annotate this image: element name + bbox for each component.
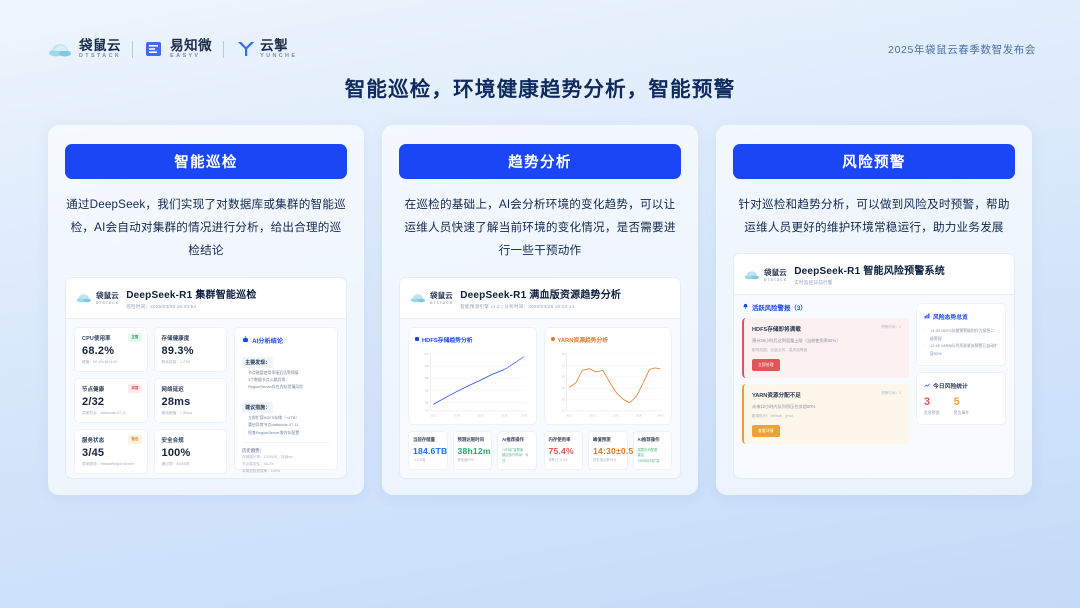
app-screenshot-inspection: 袋鼠云 DTSTACK DeepSeek-R1 集群智能巡检 巡检时间：2025… <box>65 277 347 479</box>
metric-value: 3/45 <box>82 447 140 459</box>
alert-time: 预警时间：2 <box>881 325 901 330</box>
ai-findings-title: 主要发现： <box>242 357 273 368</box>
risk-overview-heading: 风险态势总览 <box>933 312 968 321</box>
app-title-block-risk: DeepSeek-R1 智能风险预警系统 实时监控日前行警 <box>794 262 945 286</box>
stat-note: +4TB扩容预案 建议执行时间：今日 <box>502 448 532 464</box>
chart-yarn-title: YARN资源趋势分析 <box>558 335 609 344</box>
stat-label: 内存使用率 <box>549 437 579 443</box>
metric-label: 安全合规 <box>162 436 220 444</box>
alert-action-button[interactable]: 查看详情 <box>752 425 780 437</box>
svg-text:15: 15 <box>561 408 564 412</box>
logo-divider-2 <box>223 41 224 58</box>
metric-value: 100% <box>162 447 220 459</box>
risk-stat-value: 3 <box>924 396 930 408</box>
stat-card: 预测达限时间 38h12m 置信度92% <box>453 431 493 470</box>
column-description-inspection: 通过DeepSeek，我们实现了对数据库或集群的智能巡检，AI会自动对集群的情况… <box>65 193 347 263</box>
legend-swatch-icon <box>551 337 555 341</box>
logo-dtstack-text: 袋鼠云 DTSTACK <box>79 39 121 60</box>
app-brand-en: DTSTACK <box>96 301 119 305</box>
svg-text:150: 150 <box>424 400 429 404</box>
ai-advice-item: 重启异常节点datanode-07,11 <box>242 421 330 428</box>
column-risk: 风险预警 针对巡检和趋势分析，可以做到风险及时预警，帮助运维人员更好的维护环境常… <box>716 125 1032 495</box>
app-brand-cn: 袋鼠云 <box>430 290 453 301</box>
svg-text:180: 180 <box>424 376 429 380</box>
logo-yunche-text: 云掣 YUNCHE <box>260 39 297 60</box>
svg-text:60: 60 <box>561 374 564 378</box>
metric-value: 28ms <box>162 396 220 408</box>
risk-stats-heading: 今日风险统计 <box>933 381 968 390</box>
alert-item-critical[interactable]: 预警时间：2 HDFS存储即将满载 预计36小时后达到容量上限（当前使用率92%… <box>742 318 909 378</box>
ai-panel-heading-row: AI分析结论 <box>242 336 330 345</box>
stat-card: 内存使用率 75.4% 较昨日↑3.2% <box>544 431 584 470</box>
alert-meta: 影响范围：全量业务、高风险等级 <box>752 348 901 353</box>
chart-hdfs-legend: HDFS存储趋势分析 <box>415 335 530 344</box>
stat-label: 当前存储量 <box>413 437 443 443</box>
cloud-logo-icon <box>410 291 427 304</box>
chart-yarn: YARN资源趋势分析 <box>544 327 673 426</box>
stats-row-memory: 内存使用率 75.4% 较昨日↑3.2% 峰值预测 14:30±0.5h 历史重… <box>544 431 673 470</box>
app-title-block-trend: DeepSeek-R1 满血版资源趋势分析 智能预测引擎 v1.2 | 分析时间… <box>460 286 621 310</box>
stat-value: 14:30±0.5h <box>593 446 623 456</box>
logo-dtstack-en: DTSTACK <box>79 54 121 59</box>
ai-advice-title: 建议措施： <box>242 402 273 413</box>
svg-text:12:00: 12:00 <box>612 414 619 417</box>
svg-text:03-26: 03-26 <box>478 414 485 417</box>
app-brand-cn: 袋鼠云 <box>764 267 787 278</box>
svg-text:90: 90 <box>561 351 564 355</box>
stat-card: 峰值预测 14:30±0.5h 历史重合率93% <box>588 431 628 470</box>
app-subtitle-inspection: 巡检时间：2025/03/28 15:34:54 <box>126 304 256 310</box>
app-title-trend: DeepSeek-R1 满血版资源趋势分析 <box>460 286 621 301</box>
alert-meta: 影响队列：default、prod <box>752 414 901 419</box>
risk-overview-item: 12:45 YARN队列资源紧张预警已自动扩容50% <box>924 342 998 357</box>
metric-note: 异常节点：datanode-07,11 <box>82 411 140 416</box>
svg-text:165: 165 <box>424 388 429 392</box>
stat-note: 历史重合率93% <box>593 458 623 463</box>
alert-description: 未来12小时内队列积压任务超80% <box>752 404 901 410</box>
app-title-block-inspection: DeepSeek-R1 集群智能巡检 巡检时间：2025/03/28 15:34… <box>126 286 256 310</box>
metric-note: 剩余容量：1.2TB <box>162 360 220 365</box>
robot-icon <box>242 336 249 345</box>
app-header-risk: 袋鼠云 DTSTACK DeepSeek-R1 智能风险预警系统 实时监控日前行… <box>734 254 1014 295</box>
svg-text:03-24: 03-24 <box>454 414 461 417</box>
yunche-logo-icon <box>235 39 255 59</box>
metric-label: 网络延迟 <box>162 385 220 393</box>
risk-overview-heading-row: 风险态势总览 <box>924 312 998 321</box>
metric-grid: 正常 CPU使用率 68.2% 峰值：92.4% @14:20 存储健康度 89… <box>74 327 227 470</box>
svg-text:00:00: 00:00 <box>566 414 573 417</box>
app-body-trend: HDFS存储趋势分析 <box>400 319 680 478</box>
legend-swatch-icon <box>415 337 419 341</box>
metric-card: 网络延迟 28ms 基线阈值：< 50ms <box>154 378 228 423</box>
stats-row-storage: 当前存储量 184.6TB ↑12%/周 预测达限时间 38h12m 置信度92… <box>408 431 537 470</box>
column-heading-inspection: 智能巡检 <box>65 144 347 179</box>
stat-label: 峰值预测 <box>593 437 623 443</box>
alerts-panel: 活跃风险警报（3） 预警时间：2 HDFS存储即将满载 预计36小时后达到容量上… <box>742 303 909 470</box>
app-brand-inspection: 袋鼠云 DTSTACK <box>76 290 119 305</box>
ai-advice-item: 检查RegionServer堆内存配置 <box>242 429 330 436</box>
logo-group: 袋鼠云 DTSTACK 易知微 EASYV <box>48 39 297 60</box>
app-body-inspection: 正常 CPU使用率 68.2% 峰值：92.4% @14:20 存储健康度 89… <box>66 319 346 478</box>
ai-advice-item: 立即扩容HDFS存储（+4TB） <box>242 414 330 421</box>
app-brand-cn: 袋鼠云 <box>96 290 119 301</box>
metric-card: 存储健康度 89.3% 剩余容量：1.2TB <box>154 327 228 372</box>
svg-text:75: 75 <box>561 363 564 367</box>
app-header-trend: 袋鼠云 DTSTACK DeepSeek-R1 满血版资源趋势分析 智能预测引擎… <box>400 278 680 319</box>
svg-text:06:00: 06:00 <box>589 414 596 417</box>
logo-yunche: 云掣 YUNCHE <box>235 39 297 60</box>
logo-easyv-en: EASYV <box>170 54 212 59</box>
svg-text:135: 135 <box>424 408 429 412</box>
risk-overview-card: 风险态势总览 14:30 HDFS存储预警级别升为紧急二级警报 12:45 YA… <box>916 303 1006 366</box>
chart-hdfs: HDFS存储趋势分析 <box>408 327 537 426</box>
cloud-logo-icon <box>76 291 93 304</box>
easyv-logo-icon <box>144 39 165 59</box>
stat-note: 较昨日↑3.2% <box>549 458 579 463</box>
ai-history-item: 存储增长率：12GB/天，持续mu <box>242 454 330 461</box>
logo-dtstack: 袋鼠云 DTSTACK <box>48 39 121 60</box>
stat-note: ↑12%/周 <box>413 458 443 463</box>
svg-text:03-30: 03-30 <box>521 414 528 417</box>
logo-yunche-en: YUNCHE <box>260 54 297 59</box>
app-screenshot-trend: 袋鼠云 DTSTACK DeepSeek-R1 满血版资源趋势分析 智能预测引擎… <box>399 277 681 479</box>
metric-card: 警告 服务状态 3/45 异常服务：HBaseRegionServer <box>74 429 148 474</box>
svg-text:03-22: 03-22 <box>430 414 437 417</box>
chart-yarn-plot: 907560 453015 00:0006:00 12:0018:0024:00 <box>551 346 666 421</box>
metric-value: 89.3% <box>162 345 220 357</box>
logo-divider-1 <box>132 41 133 58</box>
ai-finding-item: 节点磁盘使用率接近告警阈值 <box>242 369 330 376</box>
app-subtitle-trend: 智能预测引擎 v1.2 | 分析时间：2025/03/28 15:23:14 <box>460 304 621 310</box>
status-badge: 警告 <box>128 435 141 444</box>
svg-text:195: 195 <box>424 364 429 368</box>
ai-history-title: 历史趋势： <box>242 442 330 454</box>
risk-stat-label: 危急警报 <box>924 410 940 416</box>
chart-hdfs-title: HDFS存储趋势分析 <box>422 335 473 344</box>
risk-stat-label: 警告事件 <box>954 410 970 416</box>
alerts-heading: 活跃风险警报（3） <box>752 303 807 312</box>
stat-label: 预测达限时间 <box>458 437 488 443</box>
stat-value: 75.4% <box>549 446 579 456</box>
svg-text:24:00: 24:00 <box>657 414 664 417</box>
svg-text:210: 210 <box>424 351 429 355</box>
ai-history-item: 节点稳定性：98.2% <box>242 461 330 468</box>
trend-up-icon <box>924 382 930 390</box>
cloud-logo-icon <box>48 39 74 59</box>
alert-title: YARN资源分配不足 <box>752 391 901 399</box>
column-description-risk: 针对巡检和趋势分析，可以做到风险及时预警，帮助运维人员更好的维护环境常稳运行，助… <box>733 193 1015 239</box>
logo-yunche-cn: 云掣 <box>260 39 297 53</box>
alert-title: HDFS存储即将满载 <box>752 325 901 333</box>
logo-easyv: 易知微 EASYV <box>144 39 212 60</box>
stat-value: 184.6TB <box>413 446 443 456</box>
stat-card: 当前存储量 184.6TB ↑12%/周 <box>408 431 448 470</box>
ai-history-item: 本周巡检完成率：100% <box>242 468 330 475</box>
slide: 袋鼠云 DTSTACK 易知微 EASYV <box>0 0 1080 608</box>
app-brand-en: DTSTACK <box>764 278 787 282</box>
stat-label: AI推荐操作 <box>638 437 668 443</box>
risk-stat-numbers: 3 危急警报 5 警告事件 <box>924 396 998 416</box>
stat-card: AI推荐操作 调整队列配置 建议： YARN队列扩容 <box>633 431 673 470</box>
alert-time: 预警时间：1 <box>881 391 901 396</box>
metric-label: 存储健康度 <box>162 334 220 342</box>
svg-text:45: 45 <box>561 385 564 389</box>
ai-finding-item: 3个数据节点心跳异常 <box>242 376 330 383</box>
risk-overview-item: 14:30 HDFS存储预警级别升为紧急二级警报 <box>924 327 998 342</box>
page-title: 智能巡检，环境健康趋势分析，智能预警 <box>0 72 1080 102</box>
alert-action-button[interactable]: 立即处理 <box>752 359 780 371</box>
app-brand-risk: 袋鼠云 DTSTACK <box>744 267 787 282</box>
svg-text:18:00: 18:00 <box>635 414 642 417</box>
feature-columns: 智能巡检 通过DeepSeek，我们实现了对数据库或集群的智能巡检，AI会自动对… <box>48 125 1032 495</box>
stat-note: 置信度92% <box>458 458 488 463</box>
app-subtitle-risk: 实时监控日前行警 <box>794 280 945 286</box>
event-label: 2025年袋鼠云春季数智发布会 <box>888 42 1036 57</box>
chart-hdfs-plot: 210195180 165150135 03-2203-24 03-2603-2… <box>415 346 530 421</box>
logo-easyv-text: 易知微 EASYV <box>170 39 212 60</box>
status-badge: 正常 <box>128 333 141 342</box>
metric-card: 异常 节点健康 2/32 异常节点：datanode-07,11 <box>74 378 148 423</box>
alert-description: 预计36小时后达到容量上限（当前使用率92%） <box>752 338 901 344</box>
chart-yarn-legend: YARN资源趋势分析 <box>551 335 666 344</box>
header-bar: 袋鼠云 DTSTACK 易知微 EASYV <box>48 34 1036 64</box>
column-heading-risk: 风险预警 <box>733 144 1015 179</box>
app-body-risk: 活跃风险警报（3） 预警时间：2 HDFS存储即将满载 预计36小时后达到容量上… <box>734 295 1014 478</box>
ai-conclusion-panel: AI分析结论 主要发现： 节点磁盘使用率接近告警阈值 3个数据节点心跳异常 Re… <box>234 327 338 470</box>
alert-item-warning[interactable]: 预警时间：1 YARN资源分配不足 未来12小时内队列积压任务超80% 影响队列… <box>742 384 909 444</box>
risk-stat-warning: 5 警告事件 <box>954 396 970 416</box>
column-trend: 趋势分析 在巡检的基础上，AI会分析环境的变化趋势，可以让运维人员快速了解当前环… <box>382 125 698 495</box>
app-brand-trend: 袋鼠云 DTSTACK <box>410 290 453 305</box>
risk-stats-heading-row: 今日风险统计 <box>924 381 998 390</box>
column-description-trend: 在巡检的基础上，AI会分析环境的变化趋势，可以让运维人员快速了解当前环境的变化情… <box>399 193 681 263</box>
metric-note: 通过项：45/45项 <box>162 462 220 467</box>
logo-dtstack-cn: 袋鼠云 <box>79 39 121 53</box>
bell-icon <box>742 303 749 312</box>
risk-stat-value: 5 <box>954 396 960 408</box>
app-screenshot-risk: 袋鼠云 DTSTACK DeepSeek-R1 智能风险预警系统 实时监控日前行… <box>733 253 1015 479</box>
stat-value: 38h12m <box>458 446 488 456</box>
metric-note: 基线阈值：< 50ms <box>162 411 220 416</box>
svg-text:30: 30 <box>561 397 564 401</box>
column-heading-trend: 趋势分析 <box>399 144 681 179</box>
status-badge: 异常 <box>128 384 141 393</box>
metric-card: 安全合规 100% 通过项：45/45项 <box>154 429 228 474</box>
metric-note: 峰值：92.4% @14:20 <box>82 360 140 365</box>
risk-stat-critical: 3 危急警报 <box>924 396 940 416</box>
bar-chart-icon <box>924 313 930 321</box>
risk-stats-card: 今日风险统计 3 危急警报 5 警告事件 <box>916 372 1006 425</box>
metric-note: 异常服务：HBaseRegionServer <box>82 462 140 467</box>
column-inspection: 智能巡检 通过DeepSeek，我们实现了对数据库或集群的智能巡检，AI会自动对… <box>48 125 364 495</box>
stat-card: AI推荐操作 +4TB扩容预案 建议执行时间：今日 <box>497 431 537 470</box>
ai-panel-heading: AI分析结论 <box>252 336 283 345</box>
app-title-inspection: DeepSeek-R1 集群智能巡检 <box>126 286 256 301</box>
metric-value: 68.2% <box>82 345 140 357</box>
cloud-logo-icon <box>744 268 761 281</box>
svg-text:03-28: 03-28 <box>501 414 508 417</box>
stat-label: AI推荐操作 <box>502 437 532 443</box>
alerts-heading-row: 活跃风险警报（3） <box>742 303 909 312</box>
ai-finding-item: RegionServer存在内存泄漏风险 <box>242 383 330 390</box>
app-header-inspection: 袋鼠云 DTSTACK DeepSeek-R1 集群智能巡检 巡检时间：2025… <box>66 278 346 319</box>
metric-value: 2/32 <box>82 396 140 408</box>
app-title-risk: DeepSeek-R1 智能风险预警系统 <box>794 262 945 277</box>
metric-card: 正常 CPU使用率 68.2% 峰值：92.4% @14:20 <box>74 327 148 372</box>
risk-side-panel: 风险态势总览 14:30 HDFS存储预警级别升为紧急二级警报 12:45 YA… <box>916 303 1006 470</box>
logo-easyv-cn: 易知微 <box>170 39 212 53</box>
app-brand-en: DTSTACK <box>430 301 453 305</box>
stat-note: 调整队列配置 建议： YARN队列扩容 <box>638 448 668 464</box>
